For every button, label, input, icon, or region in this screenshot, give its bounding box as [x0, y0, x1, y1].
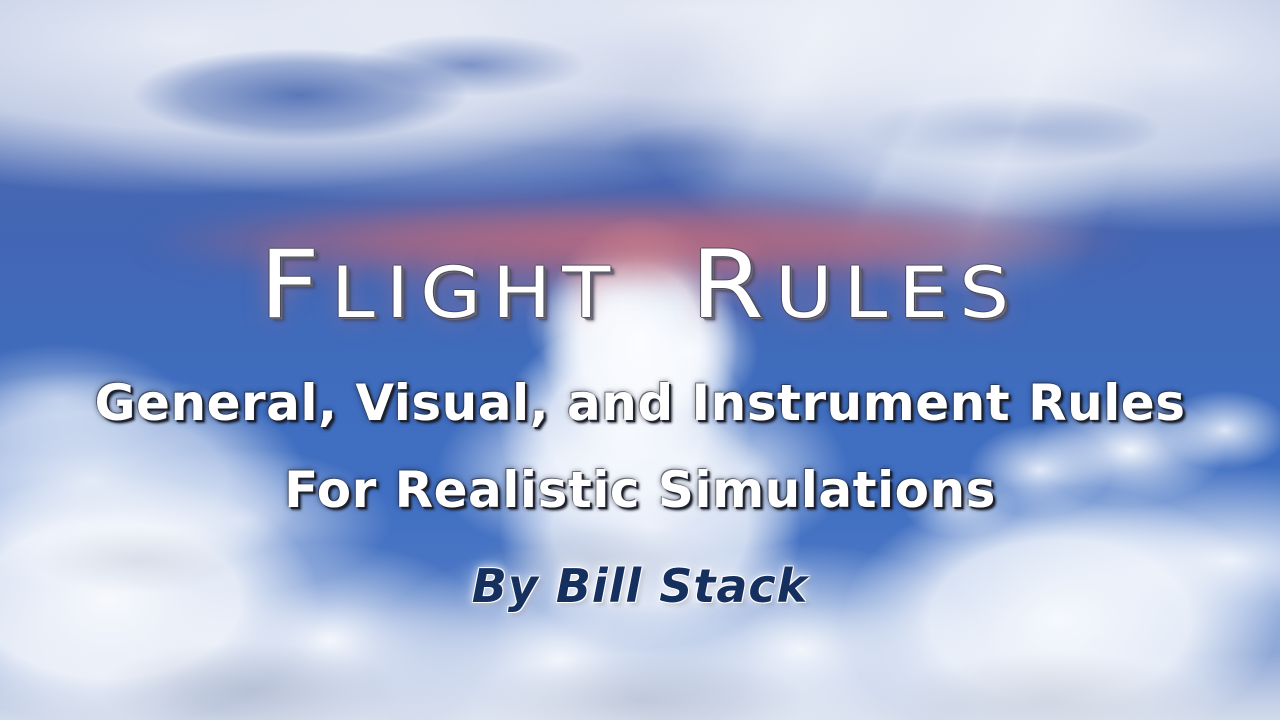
subtitle-line-1: General, Visual, and Instrument Rules: [0, 374, 1280, 432]
main-title-group: FLIGHT RULES: [0, 176, 1280, 396]
title-content: FLIGHT RULES General, Visual, and Instru…: [0, 0, 1280, 720]
title-word-gap: [622, 231, 691, 340]
author-byline: By Bill Stack: [0, 559, 1280, 613]
title-word2-rest: ULES: [775, 252, 1020, 334]
title-word1-rest: LIGHT: [331, 252, 621, 334]
title-slide: FLIGHT RULES General, Visual, and Instru…: [0, 0, 1280, 720]
title-word2-initial: R: [691, 231, 775, 340]
page-title: FLIGHT RULES: [259, 239, 1020, 333]
title-word1-initial: F: [259, 231, 331, 340]
subtitle-line-2: For Realistic Simulations: [0, 461, 1280, 519]
